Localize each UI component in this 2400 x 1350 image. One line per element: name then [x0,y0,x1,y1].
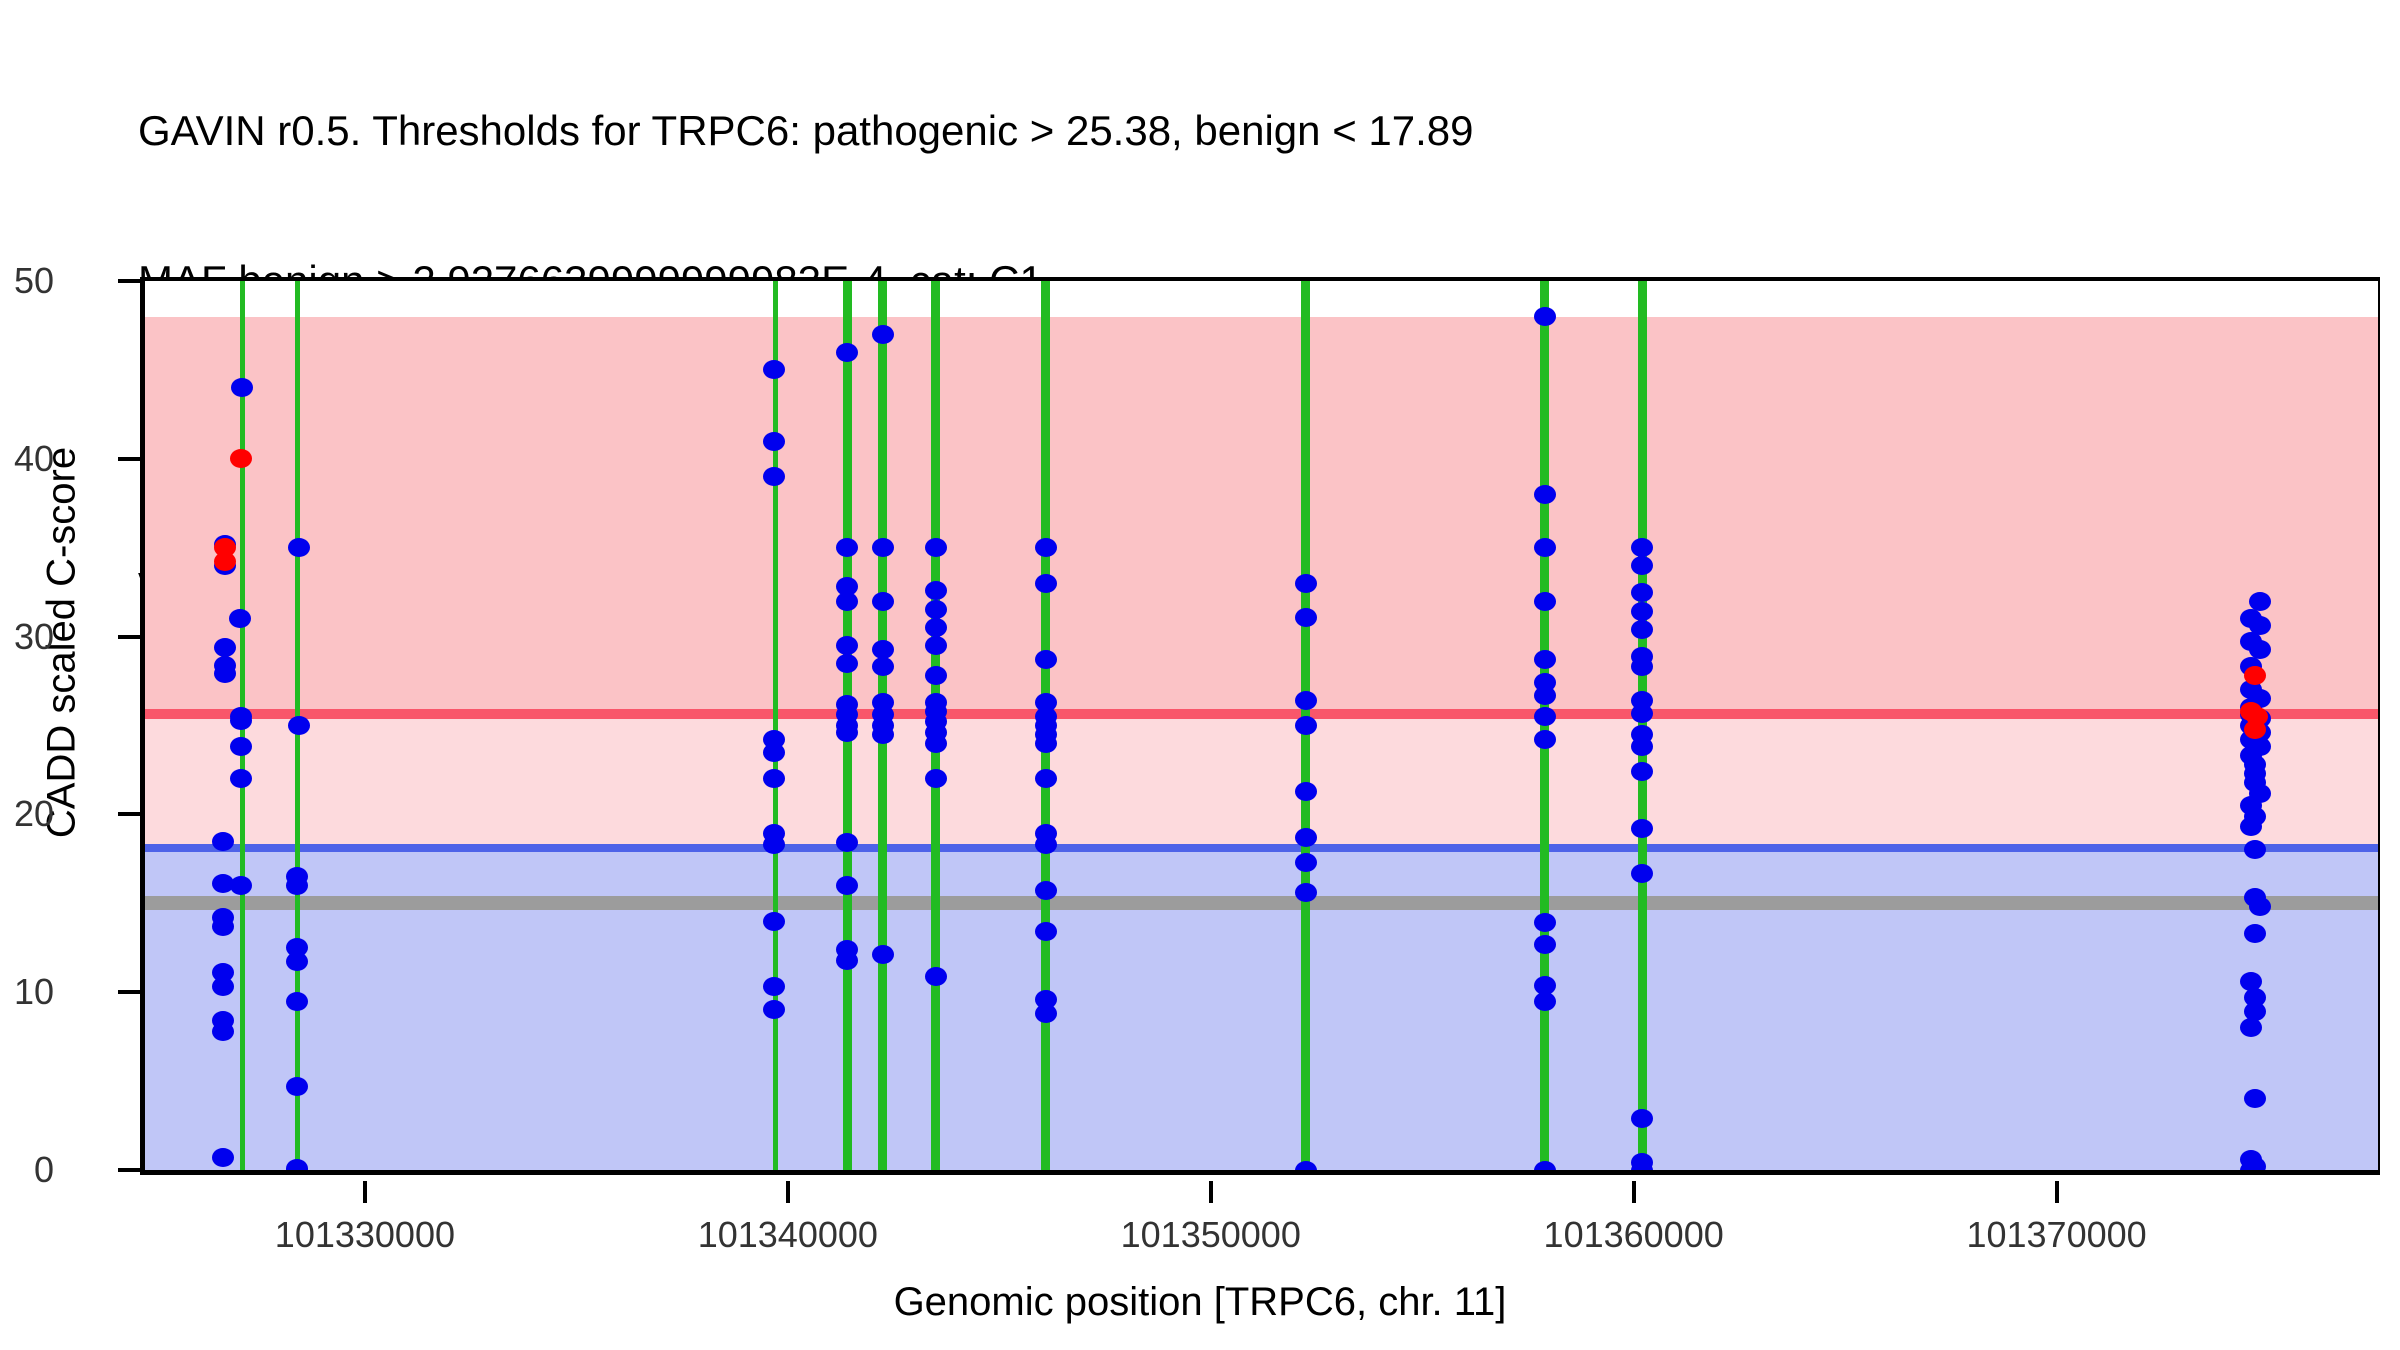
gnomad-variant-point [1295,716,1317,735]
gnomad-variant-point [1534,650,1556,669]
plot-canvas [145,281,2378,1170]
gnomad-variant-point [288,538,310,557]
y-axis-tick-mark [118,812,140,816]
gnomad-variant-point [925,636,947,655]
gnomad-variant-point [230,711,252,730]
gnomad-variant-point [925,618,947,637]
gnomad-variant-point [1534,1161,1556,1176]
gnomad-variant-point [1295,782,1317,801]
gnomad-variant-point [1534,992,1556,1011]
gnomad-variant-point [925,967,947,986]
y-axis-tick-label: 0 [0,1152,54,1188]
gnomad-variant-point [1295,691,1317,710]
gnomad-variant-point [1631,556,1653,575]
y-axis-tick-mark [118,279,140,283]
gnomad-variant-point [836,876,858,895]
x-axis-tick-mark [1632,1181,1636,1203]
x-axis-label: Genomic position [TRPC6, chr. 11] [0,1280,2400,1325]
gnomad-variant-point [288,716,310,735]
x-axis-tick-label: 101360000 [1434,1214,1834,1256]
exon-marker [773,281,778,1170]
gnomad-variant-point [1631,704,1653,723]
gnomad-variant-point [1295,828,1317,847]
gnomad-variant-point [836,654,858,673]
y-axis-tick-label: 20 [0,796,54,832]
gnomad-variant-point [763,912,785,931]
gnomad-variant-point [1295,883,1317,902]
title-line-1: GAVIN r0.5. Thresholds for TRPC6: pathog… [138,106,2338,156]
fallback-threshold-line [145,896,2378,910]
gnomad-variant-point [763,432,785,451]
gnomad-variant-point [1295,1161,1317,1176]
x-axis-tick-mark [2055,1181,2059,1203]
gnomad-variant-point [925,538,947,557]
gnomad-variant-point [286,992,308,1011]
gnomad-variant-point [872,640,894,659]
gnomad-variant-point [836,723,858,742]
gnomad-variant-point [925,734,947,753]
gnomad-variant-point [1035,734,1057,753]
vous-zone [145,719,2378,852]
gnomad-variant-point [1035,574,1057,593]
gnomad-variant-point [1295,574,1317,593]
y-axis-tick-mark [118,457,140,461]
gnomad-variant-point [2249,640,2271,659]
gnomad-variant-point [212,917,234,936]
pathogenic-zone [145,317,2378,719]
gnomad-variant-point [2249,897,2271,916]
gnomad-variant-point [872,592,894,611]
gnomad-variant-point [1631,1109,1653,1128]
x-axis-tick-label: 101350000 [1011,1214,1411,1256]
gnomad-variant-point [872,725,894,744]
gnomad-variant-point [1534,538,1556,557]
gnomad-variant-point [1035,650,1057,669]
gnomad-variant-point [1631,864,1653,883]
gnomad-variant-point [836,343,858,362]
x-axis-tick-label: 101370000 [1857,1214,2257,1256]
y-axis-tick-label: 40 [0,441,54,477]
gnomad-variant-point [1534,707,1556,726]
gnomad-variant-point [1631,620,1653,639]
gnomad-variant-point [1035,538,1057,557]
gnomad-variant-point [1295,608,1317,627]
y-axis-tick-label: 10 [0,974,54,1010]
x-axis-tick-mark [363,1181,367,1203]
gnomad-variant-point [872,325,894,344]
clinvar-pathogenic-point [2244,720,2266,739]
gnomad-variant-point [763,743,785,762]
gnomad-variant-point [836,636,858,655]
gnomad-variant-point [1631,583,1653,602]
clinvar-pathogenic-point [214,552,236,571]
y-axis-tick-label: 50 [0,263,54,299]
gnomad-variant-point [925,581,947,600]
gnomad-variant-point [212,832,234,851]
x-axis-tick-label: 101340000 [588,1214,988,1256]
gnomad-variant-point [1035,922,1057,941]
gnomad-variant-point [1534,485,1556,504]
gnomad-variant-point [2249,592,2271,611]
plot-area [140,277,2380,1175]
gnomad-variant-point [1295,853,1317,872]
gnomad-variant-point [1534,935,1556,954]
x-axis-tick-mark [1209,1181,1213,1203]
y-axis-tick-label: 30 [0,619,54,655]
y-axis-tick-mark [118,990,140,994]
gnomad-variant-point [1534,307,1556,326]
gnomad-variant-point [286,1077,308,1096]
gnomad-variant-point [1035,835,1057,854]
gnomad-variant-point [1534,592,1556,611]
gnomad-variant-point [1534,686,1556,705]
y-axis-tick-mark [118,635,140,639]
gnomad-variant-point [1035,1004,1057,1023]
gnomad-variant-point [212,1022,234,1041]
gnomad-variant-point [836,592,858,611]
x-axis-tick-mark [786,1181,790,1203]
y-axis-tick-mark [118,1168,140,1172]
gavin-cadd-scatter-figure: GAVIN r0.5. Thresholds for TRPC6: pathog… [0,0,2400,1350]
x-axis-tick-label: 101330000 [165,1214,565,1256]
gnomad-variant-point [836,951,858,970]
gnomad-variant-point [214,638,236,657]
gnomad-variant-point [1534,730,1556,749]
gnomad-variant-point [925,666,947,685]
gnomad-variant-point [214,664,236,683]
